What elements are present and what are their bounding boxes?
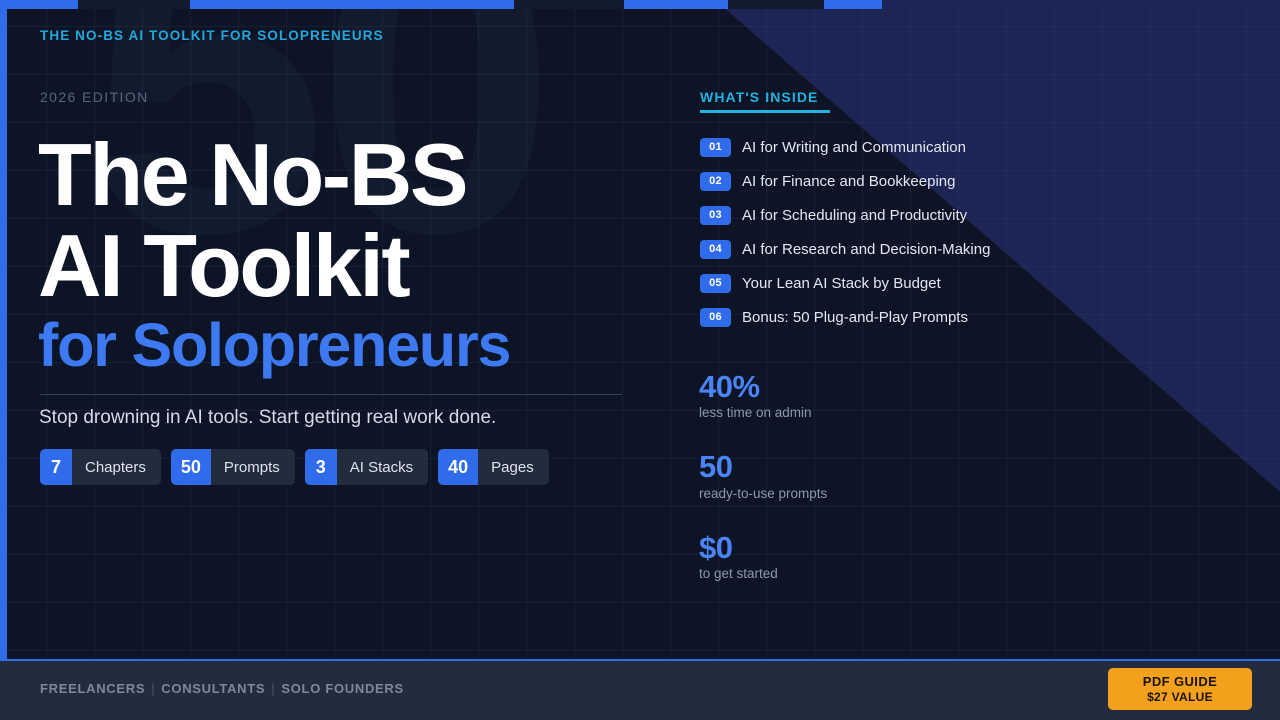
stat-badge: 50Prompts (171, 449, 295, 485)
title-line-3: for Solopreneurs (38, 316, 510, 375)
list-item-number-badge: 02 (700, 172, 731, 191)
left-accent-rail (0, 0, 7, 661)
whats-inside-underline (700, 110, 830, 113)
metric-block: 50ready-to-use prompts (699, 450, 827, 500)
title-line-1: The No-BS (38, 132, 510, 217)
footer-tag: CONSULTANTS (161, 681, 265, 696)
list-item[interactable]: 06Bonus: 50 Plug-and-Play Prompts (700, 300, 990, 334)
eyebrow-text: THE NO-BS AI TOOLKIT FOR SOLOPRENEURS (40, 28, 384, 43)
metric-block: $0to get started (699, 531, 827, 581)
top-bar-segment-1 (0, 0, 78, 9)
stat-badge: 40Pages (438, 449, 549, 485)
edition-label: 2026 EDITION (40, 89, 149, 105)
footer-tag-separator: | (145, 681, 161, 696)
stat-badge-label: Prompts (211, 449, 295, 485)
top-bar-segment-8 (882, 0, 1280, 9)
badge-value: $27 VALUE (1147, 690, 1213, 704)
stat-badge: 3AI Stacks (305, 449, 428, 485)
badge-title: PDF GUIDE (1143, 674, 1217, 689)
poster-canvas: 50 THE NO-BS AI TOOLKIT FOR SOLOPRENEURS… (0, 0, 1280, 720)
footer-audience-tags: FREELANCERS|CONSULTANTS|SOLO FOUNDERS (40, 681, 404, 696)
list-item-label: Bonus: 50 Plug-and-Play Prompts (742, 309, 968, 326)
top-bar-segment-2 (78, 0, 190, 9)
metric-caption: less time on admin (699, 405, 827, 420)
stat-badge-number: 40 (438, 449, 478, 485)
page-title: The No-BS AI Toolkit for Solopreneurs (38, 132, 510, 375)
list-item[interactable]: 05Your Lean AI Stack by Budget (700, 266, 990, 300)
top-bar-segment-5 (624, 0, 728, 9)
top-bar-segment-7 (824, 0, 882, 9)
list-item[interactable]: 03AI for Scheduling and Productivity (700, 198, 990, 232)
metric-value: 50 (699, 450, 827, 483)
list-item-number-badge: 05 (700, 274, 731, 293)
stat-badge-number: 3 (305, 449, 337, 485)
list-item-label: AI for Scheduling and Productivity (742, 207, 967, 224)
whats-inside-list: 01AI for Writing and Communication02AI f… (700, 130, 990, 334)
list-item-number-badge: 03 (700, 206, 731, 225)
list-item[interactable]: 04AI for Research and Decision-Making (700, 232, 990, 266)
list-item-number-badge: 01 (700, 138, 731, 157)
title-divider (40, 394, 622, 395)
stat-badge-label: Pages (478, 449, 549, 485)
top-segmented-bar (0, 0, 1280, 9)
stat-badge: 7Chapters (40, 449, 161, 485)
top-bar-segment-6 (728, 0, 824, 9)
list-item-label: AI for Finance and Bookkeeping (742, 173, 955, 190)
list-item-label: AI for Writing and Communication (742, 139, 966, 156)
list-item[interactable]: 02AI for Finance and Bookkeeping (700, 164, 990, 198)
footer-tag-separator: | (265, 681, 281, 696)
stat-badge-number: 50 (171, 449, 211, 485)
metric-caption: to get started (699, 566, 827, 581)
stat-badge-number: 7 (40, 449, 72, 485)
metric-value: 40% (699, 370, 827, 403)
list-item-label: Your Lean AI Stack by Budget (742, 275, 941, 292)
list-item[interactable]: 01AI for Writing and Communication (700, 130, 990, 164)
list-item-number-badge: 06 (700, 308, 731, 327)
whats-inside-heading: WHAT'S INSIDE (700, 89, 818, 105)
metric-value: $0 (699, 531, 827, 564)
subtitle-text: Stop drowning in AI tools. Start getting… (39, 407, 496, 429)
stat-badge-label: AI Stacks (337, 449, 428, 485)
metric-caption: ready-to-use prompts (699, 486, 827, 501)
footer-divider (0, 659, 1280, 661)
metric-block: 40%less time on admin (699, 370, 827, 420)
footer-tag: SOLO FOUNDERS (281, 681, 404, 696)
stat-badge-label: Chapters (72, 449, 161, 485)
title-line-2: AI Toolkit (38, 223, 510, 308)
metrics-list: 40%less time on admin50ready-to-use prom… (699, 370, 827, 611)
stat-badge-row: 7Chapters50Prompts3AI Stacks40Pages (40, 449, 549, 485)
top-bar-segment-3 (190, 0, 514, 9)
list-item-number-badge: 04 (700, 240, 731, 259)
footer-tag: FREELANCERS (40, 681, 145, 696)
top-bar-segment-4 (514, 0, 624, 9)
pdf-guide-badge[interactable]: PDF GUIDE $27 VALUE (1108, 668, 1252, 710)
list-item-label: AI for Research and Decision-Making (742, 241, 990, 258)
